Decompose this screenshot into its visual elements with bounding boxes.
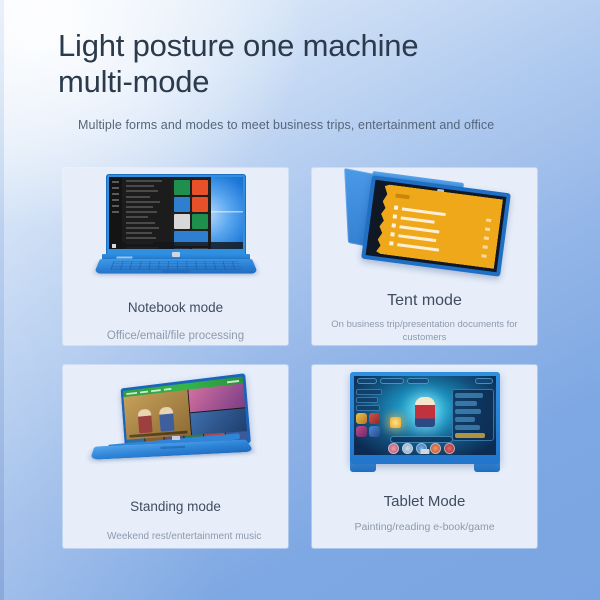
- game-screen: [354, 376, 496, 455]
- featured-video-thumbnail: [123, 390, 190, 440]
- card-subtitle-notebook: Office/email/file processing: [63, 329, 288, 344]
- promo-page: Light posture one machine multi-mode Mul…: [0, 0, 600, 600]
- card-subtitle-tablet: Painting/reading e-book/game: [312, 521, 537, 535]
- card-title-standing: Standing mode: [63, 499, 288, 514]
- tent-device-image: [312, 168, 537, 284]
- card-title-notebook: Notebook mode: [63, 300, 288, 315]
- laptop-standing-icon: [92, 373, 260, 477]
- page-subtitle: Multiple forms and modes to meet busines…: [78, 118, 560, 132]
- standing-device-image: [63, 365, 288, 485]
- card-subtitle-standing: Weekend rest/entertainment music: [63, 530, 288, 543]
- laptop-open-icon: [100, 174, 252, 282]
- windows-start-menu: [109, 177, 171, 249]
- tablet-device-image: [312, 365, 537, 483]
- card-title-tablet: Tablet Mode: [312, 493, 537, 510]
- presentation-document: [375, 184, 502, 269]
- start-menu-tiles: [171, 177, 211, 249]
- mode-card-grid: Notebook mode Office/email/file processi…: [63, 168, 537, 548]
- page-title: Light posture one machine multi-mode: [58, 28, 488, 100]
- mode-card-tablet[interactable]: Tablet Mode Painting/reading e-book/game: [312, 365, 537, 548]
- game-side-panel: [452, 389, 494, 441]
- laptop-tent-icon: [342, 178, 508, 274]
- mode-card-notebook[interactable]: Notebook mode Office/email/file processi…: [63, 168, 288, 345]
- notebook-device-image: [63, 168, 288, 288]
- laptop-tablet-icon: [350, 372, 500, 476]
- card-title-tent: Tent mode: [312, 292, 537, 310]
- mode-card-tent[interactable]: Tent mode On business trip/presentation …: [312, 168, 537, 345]
- mode-card-standing[interactable]: Standing mode Weekend rest/entertainment…: [63, 365, 288, 548]
- page-header: Light posture one machine multi-mode Mul…: [0, 0, 600, 132]
- card-subtitle-tent: On business trip/presentation documents …: [312, 319, 537, 344]
